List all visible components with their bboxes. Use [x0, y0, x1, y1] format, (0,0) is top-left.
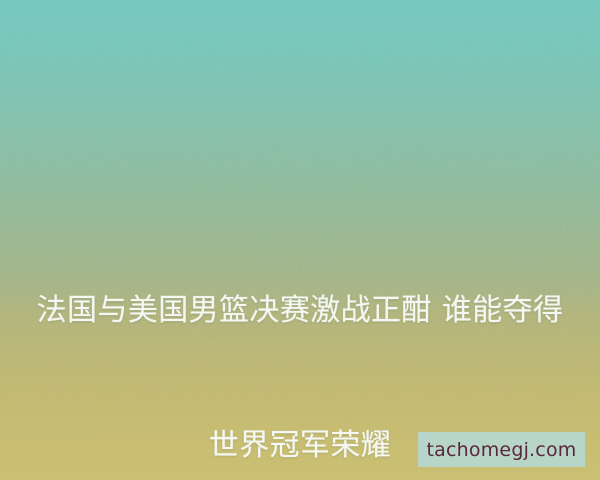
banner-canvas: 法国与美国男篮决赛激战正酣 谁能夺得 世界冠军荣耀 tachomegj.com	[0, 0, 600, 480]
watermark-badge: tachomegj.com	[418, 432, 585, 467]
watermark-label: tachomegj.com	[427, 439, 577, 461]
headline-line-1: 法国与美国男篮决赛激战正酣 谁能夺得	[22, 288, 578, 333]
